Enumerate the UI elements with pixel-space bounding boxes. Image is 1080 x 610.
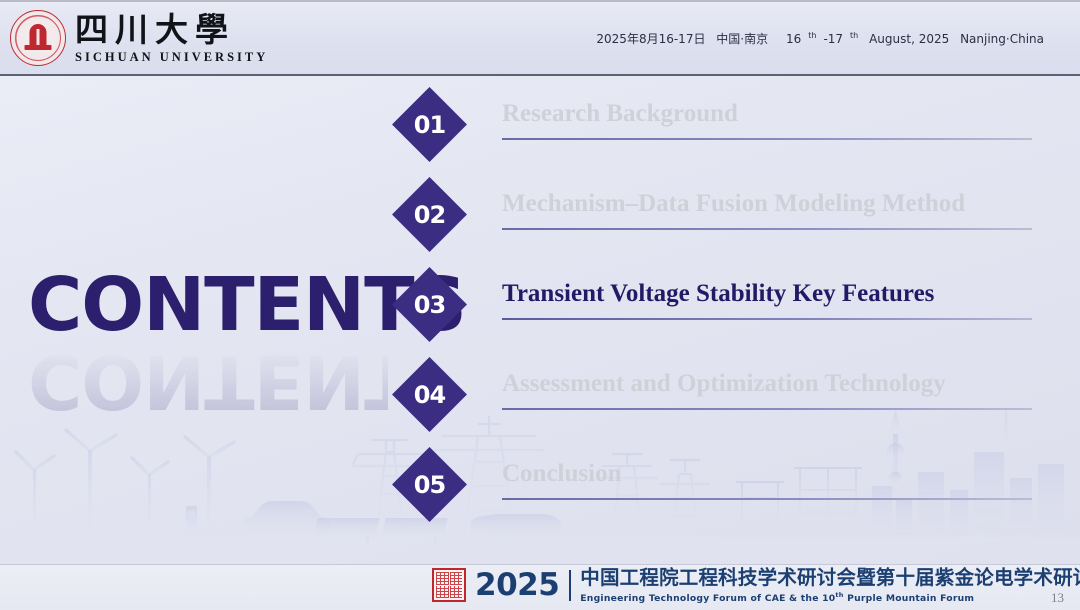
forum-name-en: Engineering Technology Forum of CAE & th…: [580, 592, 1080, 603]
contents-title-text: CONTENTS: [28, 268, 388, 342]
toc-item-03[interactable]: 03 Transient Voltage Stability Key Featu…: [398, 272, 1058, 362]
toc-number: 03: [403, 278, 456, 331]
sichuan-university-seal-icon: [10, 10, 66, 66]
divider: [569, 570, 571, 601]
toc-number: 04: [403, 368, 456, 421]
table-of-contents: 01 Research Background 02 Mechanism–Data…: [398, 92, 1058, 542]
slide-root: 四川大學 SICHUAN UNIVERSITY 2025年8月16-17日 中国…: [0, 0, 1080, 610]
toc-underline: [502, 318, 1032, 320]
toc-underline: [502, 138, 1032, 140]
toc-underline: [502, 498, 1032, 500]
toc-underline: [502, 408, 1032, 410]
red-seal-stamp-icon: [432, 568, 466, 602]
toc-number: 05: [403, 458, 456, 511]
toc-label: Assessment and Optimization Technology: [502, 362, 1058, 406]
place-cn: 中国·南京: [716, 32, 768, 46]
toc-item-01[interactable]: 01 Research Background: [398, 92, 1058, 182]
slide-header: 四川大學 SICHUAN UNIVERSITY 2025年8月16-17日 中国…: [0, 0, 1080, 76]
toc-item-02[interactable]: 02 Mechanism–Data Fusion Modeling Method: [398, 182, 1058, 272]
toc-number: 02: [403, 188, 456, 241]
conference-date-place: 2025年8月16-17日 中国·南京 16th-17th August, 20…: [589, 30, 1044, 47]
conference-year: 2025: [475, 570, 559, 601]
page-number: 13: [1051, 590, 1064, 606]
conference-branding: 2025 中国工程院工程科技学术研讨会暨第十届紫金论电学术研讨会 Enginee…: [432, 568, 1080, 603]
page-title: CONTENTS CONTENTS: [28, 268, 388, 378]
toc-label: Transient Voltage Stability Key Features: [502, 272, 1058, 316]
toc-number: 01: [403, 98, 456, 151]
university-logo: 四川大學 SICHUAN UNIVERSITY: [10, 10, 268, 66]
date-en: 16th-17th August, 2025: [779, 32, 949, 46]
university-name-cn: 四川大學: [75, 13, 268, 46]
contents-title-reflection: CONTENTS: [28, 344, 388, 418]
university-name-en: SICHUAN UNIVERSITY: [75, 51, 268, 64]
toc-item-05[interactable]: 05 Conclusion: [398, 452, 1058, 542]
date-cn: 2025年8月16-17日: [596, 32, 705, 46]
toc-label: Mechanism–Data Fusion Modeling Method: [502, 182, 1058, 226]
toc-label: Conclusion: [502, 452, 1058, 496]
slide-footer: 2025 中国工程院工程科技学术研讨会暨第十届紫金论电学术研讨会 Enginee…: [0, 564, 1080, 610]
toc-underline: [502, 228, 1032, 230]
toc-label: Research Background: [502, 92, 1058, 136]
place-en: Nanjing·China: [960, 32, 1044, 46]
forum-name-cn: 中国工程院工程科技学术研讨会暨第十届紫金论电学术研讨会: [580, 568, 1080, 588]
university-name-block: 四川大學 SICHUAN UNIVERSITY: [75, 13, 268, 64]
toc-item-04[interactable]: 04 Assessment and Optimization Technolog…: [398, 362, 1058, 452]
